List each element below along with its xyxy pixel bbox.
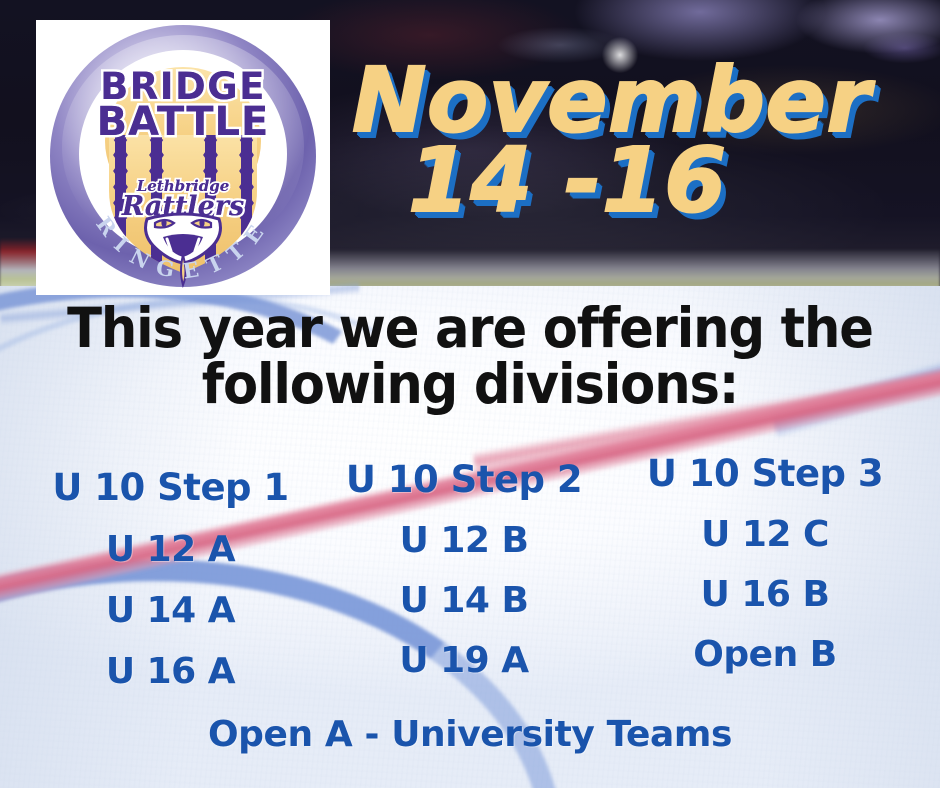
page-headline: This year we are offering the following … xyxy=(33,300,907,412)
event-poster: BRIDGE BRIDGE BATTLE BATTLE Lethbridge L… xyxy=(0,0,940,788)
division-item: U 14 B xyxy=(330,580,598,621)
divisions-column-3: U 10 Step 3 U 12 C U 16 B Open B xyxy=(620,452,910,694)
division-item: U 10 Step 2 xyxy=(330,458,598,501)
division-item: U 10 Step 3 xyxy=(620,452,910,495)
division-item: Open B xyxy=(620,634,910,675)
division-item: U 16 A xyxy=(38,651,303,692)
logo-wordmark: BRIDGE BRIDGE BATTLE BATTLE xyxy=(97,65,270,145)
bridge-battle-logo: BRIDGE BRIDGE BATTLE BATTLE Lethbridge L… xyxy=(47,23,319,293)
division-item: U 14 A xyxy=(38,590,303,631)
headline-line-2: following divisions: xyxy=(33,356,907,412)
logo-card: BRIDGE BRIDGE BATTLE BATTLE Lethbridge L… xyxy=(36,20,330,295)
division-item: U 12 C xyxy=(620,514,910,555)
divisions-column-2: U 10 Step 2 U 12 B U 14 B U 19 A xyxy=(330,452,598,700)
division-item: U 12 A xyxy=(38,529,303,570)
event-date-line-2: 14 -16 xyxy=(408,140,932,220)
division-item: U 19 A xyxy=(330,640,598,681)
divisions-column-1: U 10 Step 1 U 12 A U 14 A U 16 A xyxy=(38,452,303,712)
headline-line-1: This year we are offering the xyxy=(33,300,907,356)
bridge-battle-logo-svg: BRIDGE BRIDGE BATTLE BATTLE Lethbridge L… xyxy=(47,23,319,289)
division-item: U 10 Step 1 xyxy=(38,466,303,509)
division-item: U 12 B xyxy=(330,520,598,561)
svg-text:BATTLE: BATTLE xyxy=(97,99,270,145)
division-item: U 16 B xyxy=(620,574,910,615)
divisions-list: U 10 Step 1 U 12 A U 14 A U 16 A U 10 St… xyxy=(0,452,940,702)
divisions-footer: Open A - University Teams xyxy=(0,714,940,755)
event-date: November 14 -16 xyxy=(352,60,932,220)
